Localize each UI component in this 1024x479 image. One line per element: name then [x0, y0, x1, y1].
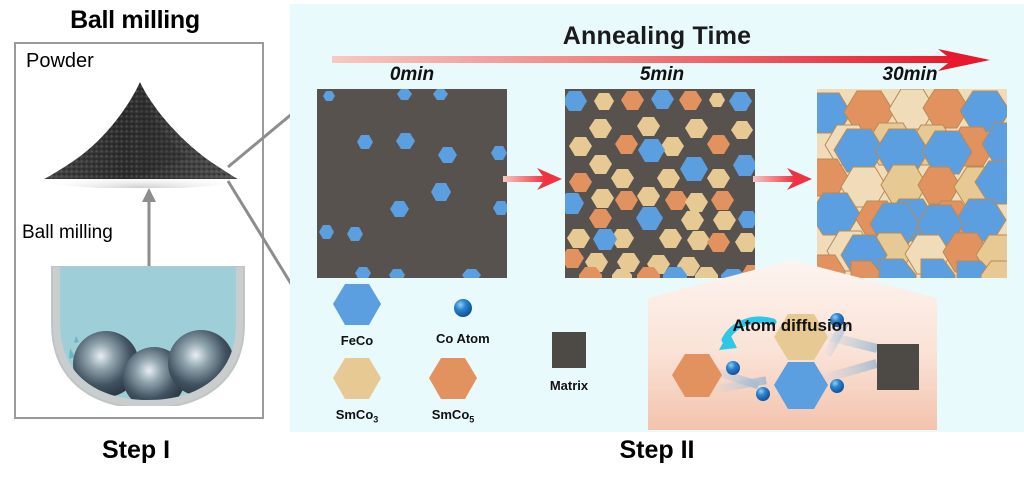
legend-item-co-atom: Co Atom: [436, 296, 490, 346]
step-one-caption: Step I: [0, 436, 272, 465]
step-two-panel: Annealing Time 0min 5min 30min: [290, 4, 1024, 432]
inset-atom-3: [756, 387, 770, 401]
step-one-panel: Ball milling Powder Ball milling: [0, 0, 290, 479]
callout-leader-lines: [225, 95, 295, 295]
hexagon-feco-icon: [332, 282, 382, 327]
inset-atom-4: [830, 379, 844, 393]
square-matrix-icon: [548, 330, 590, 372]
hexagon-smco5-icon: [428, 356, 478, 401]
atom-diffusion-inset: Atom diffusion: [645, 258, 940, 433]
legend-label-smco5: SmCo5: [428, 407, 478, 425]
transition-arrow-2: [753, 166, 813, 192]
microstructure-30min: [817, 89, 1007, 278]
annealing-time-title: Annealing Time: [290, 22, 1024, 51]
legend-item-smco5: SmCo5: [428, 356, 478, 425]
milling-jar-icon: [44, 266, 252, 406]
inset-graphic: [645, 258, 940, 433]
inset-square-matrix: [877, 344, 919, 390]
legend-label-smco3: SmCo3: [332, 407, 382, 425]
microstructure-0min: [317, 89, 507, 278]
transition-arrow-1: [503, 166, 563, 192]
hexagon-smco3-icon: [332, 356, 382, 401]
legend-label-matrix: Matrix: [548, 378, 590, 393]
microstructure-5min: [565, 89, 755, 278]
figure-root: Ball milling Powder Ball milling: [0, 0, 1024, 479]
time-label-0min: 0min: [352, 64, 472, 86]
ball-milling-label: Ball milling: [22, 222, 113, 244]
time-label-5min: 5min: [602, 64, 722, 86]
step-two-caption: Step II: [290, 436, 1024, 465]
legend-item-smco3: SmCo3: [332, 356, 382, 425]
powder-label: Powder: [26, 50, 94, 73]
circle-co-atom-icon: [451, 296, 475, 320]
atom-diffusion-title: Atom diffusion: [645, 316, 940, 336]
legend-item-feco: FeCo: [332, 282, 382, 348]
legend: FeCo Co Atom: [310, 282, 650, 432]
inset-atom-2: [726, 361, 740, 375]
legend-item-matrix: Matrix: [548, 330, 590, 393]
time-label-30min: 30min: [850, 64, 970, 86]
powder-heap-icon: [38, 78, 243, 188]
legend-label-co-atom: Co Atom: [436, 331, 490, 346]
legend-label-feco: FeCo: [332, 333, 382, 348]
step-one-title: Ball milling: [0, 6, 270, 35]
